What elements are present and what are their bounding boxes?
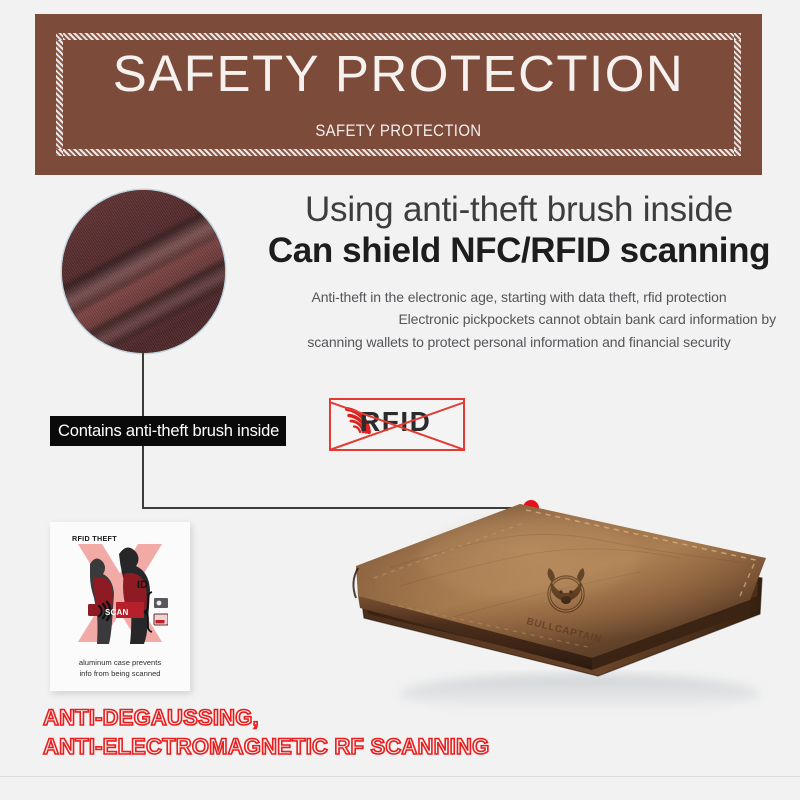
rfid-badge-text: RFID — [360, 408, 431, 436]
banner-title: SAFETY PROTECTION — [113, 48, 684, 99]
banner-content: SAFETY PROTECTION SAFETY PROTECTION — [63, 40, 734, 149]
theft-card-scan-label: SCAN — [105, 608, 128, 617]
claim-line-2: ANTI-ELECTROMAGNETIC RF SCANNING — [43, 732, 489, 761]
rfid-blocked-badge: RFID — [329, 398, 465, 451]
claim-line-1: ANTI-DEGAUSSING, — [43, 703, 489, 732]
wallet-product-image: BULLCAPTAIN — [330, 418, 800, 718]
wallet-illustration: BULLCAPTAIN — [330, 418, 800, 718]
anti-theft-brush-label: Contains anti-theft brush inside — [50, 416, 286, 446]
headline-line-1: Using anti-theft brush inside — [256, 190, 782, 229]
infographic-canvas: SAFETY PROTECTION SAFETY PROTECTION Usin… — [0, 0, 800, 800]
theft-card-graphic — [72, 542, 168, 647]
anti-scanning-claim: ANTI-DEGAUSSING, ANTI-ELECTROMAGNETIC RF… — [43, 703, 489, 762]
headline-block: Using anti-theft brush inside Can shield… — [256, 190, 782, 354]
headline-line-2: Can shield NFC/RFID scanning — [256, 231, 782, 272]
theft-card-caption: aluminum case prevents info from being s… — [50, 657, 190, 679]
header-banner: SAFETY PROTECTION SAFETY PROTECTION — [35, 14, 762, 175]
rfid-badge-inner: RFID — [331, 400, 463, 449]
fabric-swatch-icon — [62, 190, 225, 353]
rfid-theft-illustration-card: RFID THEFT — [50, 522, 190, 691]
description-line-3: scanning wallets to protect personal inf… — [256, 331, 782, 354]
description-paragraph: Anti-theft in the electronic age, starti… — [256, 286, 782, 354]
theft-card-caption-line-2: info from being scanned — [50, 668, 190, 679]
theft-card-caption-line-1: aluminum case prevents — [50, 657, 190, 668]
banner-subtitle: SAFETY PROTECTION — [315, 121, 481, 141]
description-line-1: Anti-theft in the electronic age, starti… — [256, 286, 782, 309]
banner-hatched-border: SAFETY PROTECTION SAFETY PROTECTION — [56, 33, 741, 156]
description-line-2: Electronic pickpockets cannot obtain ban… — [256, 308, 782, 331]
theft-card-id-label: ID — [137, 579, 148, 591]
bottom-divider — [0, 776, 800, 777]
